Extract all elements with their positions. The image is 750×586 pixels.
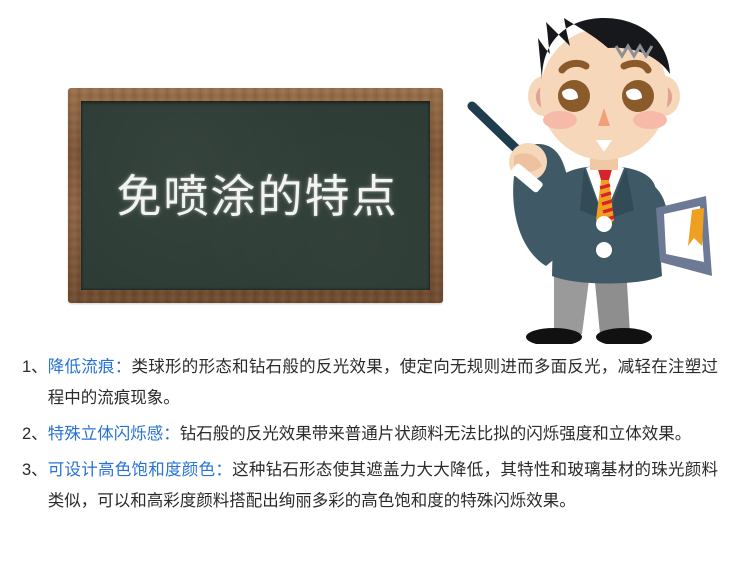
teacher-svg	[458, 4, 750, 344]
list-item: 2、 特殊立体闪烁感：钻石般的反光效果带来普通片状颜料无法比拟的闪烁强度和立体效…	[0, 419, 750, 450]
list-item-number: 3、	[22, 455, 48, 486]
list-item-body: 降低流痕：类球形的形态和钻石般的反光效果，使定向无规则进而多面反光，减轻在注塑过…	[48, 352, 718, 414]
list-item-number: 2、	[22, 419, 48, 450]
list-item: 3、 可设计高色饱和度颜色：这种钻石形态使其遮盖力大大降低，其特性和玻璃基材的珠…	[0, 455, 750, 517]
jacket-button-top	[596, 216, 612, 232]
feature-list: 1、 降低流痕：类球形的形态和钻石般的反光效果，使定向无规则进而多面反光，减轻在…	[0, 352, 750, 522]
jacket-button-bottom	[596, 242, 612, 258]
list-item-term: 可设计高色饱和度颜色：	[48, 461, 232, 479]
list-item-term: 降低流痕：	[48, 358, 132, 376]
list-item-term: 特殊立体闪烁感：	[48, 425, 180, 443]
left-cheek	[543, 111, 577, 129]
page-title: 免喷涂的特点	[116, 160, 398, 225]
list-item-description: 类球形的形态和钻石般的反光效果，使定向无规则进而多面反光，减轻在注塑过程中的流痕…	[48, 358, 718, 407]
teacher-illustration	[458, 4, 750, 344]
list-item-description: 钻石般的反光效果带来普通片状颜料无法比拟的闪烁强度和立体效果。	[180, 425, 692, 443]
list-item: 1、 降低流痕：类球形的形态和钻石般的反光效果，使定向无规则进而多面反光，减轻在…	[0, 352, 750, 414]
blackboard: 免喷涂的特点	[68, 88, 443, 303]
list-item-body: 可设计高色饱和度颜色：这种钻石形态使其遮盖力大大降低，其特性和玻璃基材的珠光颜料…	[48, 455, 718, 517]
list-item-number: 1、	[22, 352, 48, 383]
blackboard-surface: 免喷涂的特点	[81, 101, 430, 290]
right-cheek	[633, 111, 667, 129]
list-item-body: 特殊立体闪烁感：钻石般的反光效果带来普通片状颜料无法比拟的闪烁强度和立体效果。	[48, 419, 718, 450]
